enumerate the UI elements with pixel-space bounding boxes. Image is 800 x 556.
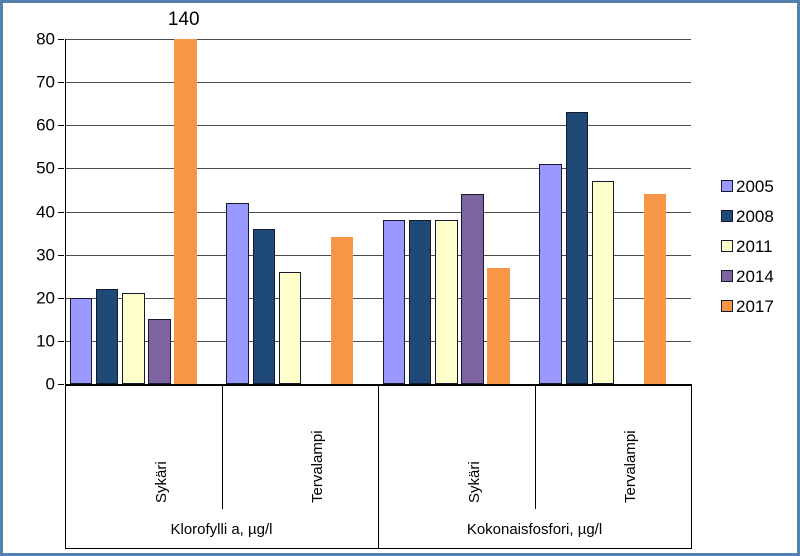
y-tick-mark [58,125,64,126]
bar-2017-2 [331,237,353,384]
category-band-border [65,548,692,549]
y-tick-mark [58,255,64,256]
category-band-border [691,384,692,548]
legend-swatch-icon [721,300,733,312]
y-tick-label: 80 [15,31,55,48]
y-axis: 80706050403020100 [3,3,55,553]
bar-2014-1 [148,319,170,384]
legend-label: 2011 [736,238,773,255]
bar-2011-4 [592,181,614,384]
chart-frame: 80706050403020100 SykäriTervalampiSykäri… [0,0,800,556]
bar-2008-1 [96,289,118,384]
category-label: Sykäri [153,461,170,503]
y-tick-mark [58,212,64,213]
bar-2005-4 [539,164,561,384]
y-tick-label: 70 [15,74,55,91]
y-tick-mark [58,298,64,299]
group-label: Klorofylli a, µg/l [65,521,378,538]
legend: 20052008201120142017 [721,171,797,321]
y-tick-label: 0 [15,376,55,393]
legend-label: 2014 [736,268,774,285]
y-tick-label: 20 [15,289,55,306]
bar-2011-1 [122,293,144,384]
bar-2017-3 [487,268,509,384]
bar-2005-1 [70,298,92,384]
legend-item-2011[interactable]: 2011 [721,231,797,261]
y-tick-mark [58,168,64,169]
bar-2005-3 [383,220,405,384]
y-tick-mark [58,82,64,83]
y-tick-mark [58,39,64,40]
category-label: Tervalampi [622,430,639,503]
category-separator [535,384,536,509]
bar-2017-4 [644,194,666,384]
y-tick-label: 40 [15,203,55,220]
legend-label: 2005 [736,178,774,195]
legend-item-2005[interactable]: 2005 [721,171,797,201]
y-tick-label: 50 [15,160,55,177]
y-tick-label: 10 [15,332,55,349]
bar-2014-3 [461,194,483,384]
y-tick-mark [58,341,64,342]
annotation-140: 140 [129,9,239,31]
bar-2005-2 [226,203,248,384]
bar-2011-2 [279,272,301,384]
legend-swatch-icon [721,210,733,222]
y-tick-mark [58,384,64,385]
y-tick-label: 30 [15,246,55,263]
y-tick-label: 60 [15,117,55,134]
bar-2011-3 [435,220,457,384]
bar-2008-3 [409,220,431,384]
legend-swatch-icon [721,180,733,192]
category-label: Sykäri [466,461,483,503]
legend-label: 2017 [736,298,774,315]
legend-label: 2008 [736,208,774,225]
legend-item-2008[interactable]: 2008 [721,201,797,231]
category-label: Tervalampi [309,430,326,503]
legend-swatch-icon [721,270,733,282]
bar-2008-2 [253,229,275,384]
group-label: Kokonaisfosfori, µg/l [378,521,691,538]
legend-swatch-icon [721,240,733,252]
bars-layer [65,39,691,384]
legend-item-2014[interactable]: 2014 [721,261,797,291]
bar-2017-1 [174,39,196,384]
legend-item-2017[interactable]: 2017 [721,291,797,321]
bar-2008-4 [566,112,588,384]
bar-chart: 80706050403020100 SykäriTervalampiSykäri… [3,3,797,553]
category-separator [222,384,223,509]
